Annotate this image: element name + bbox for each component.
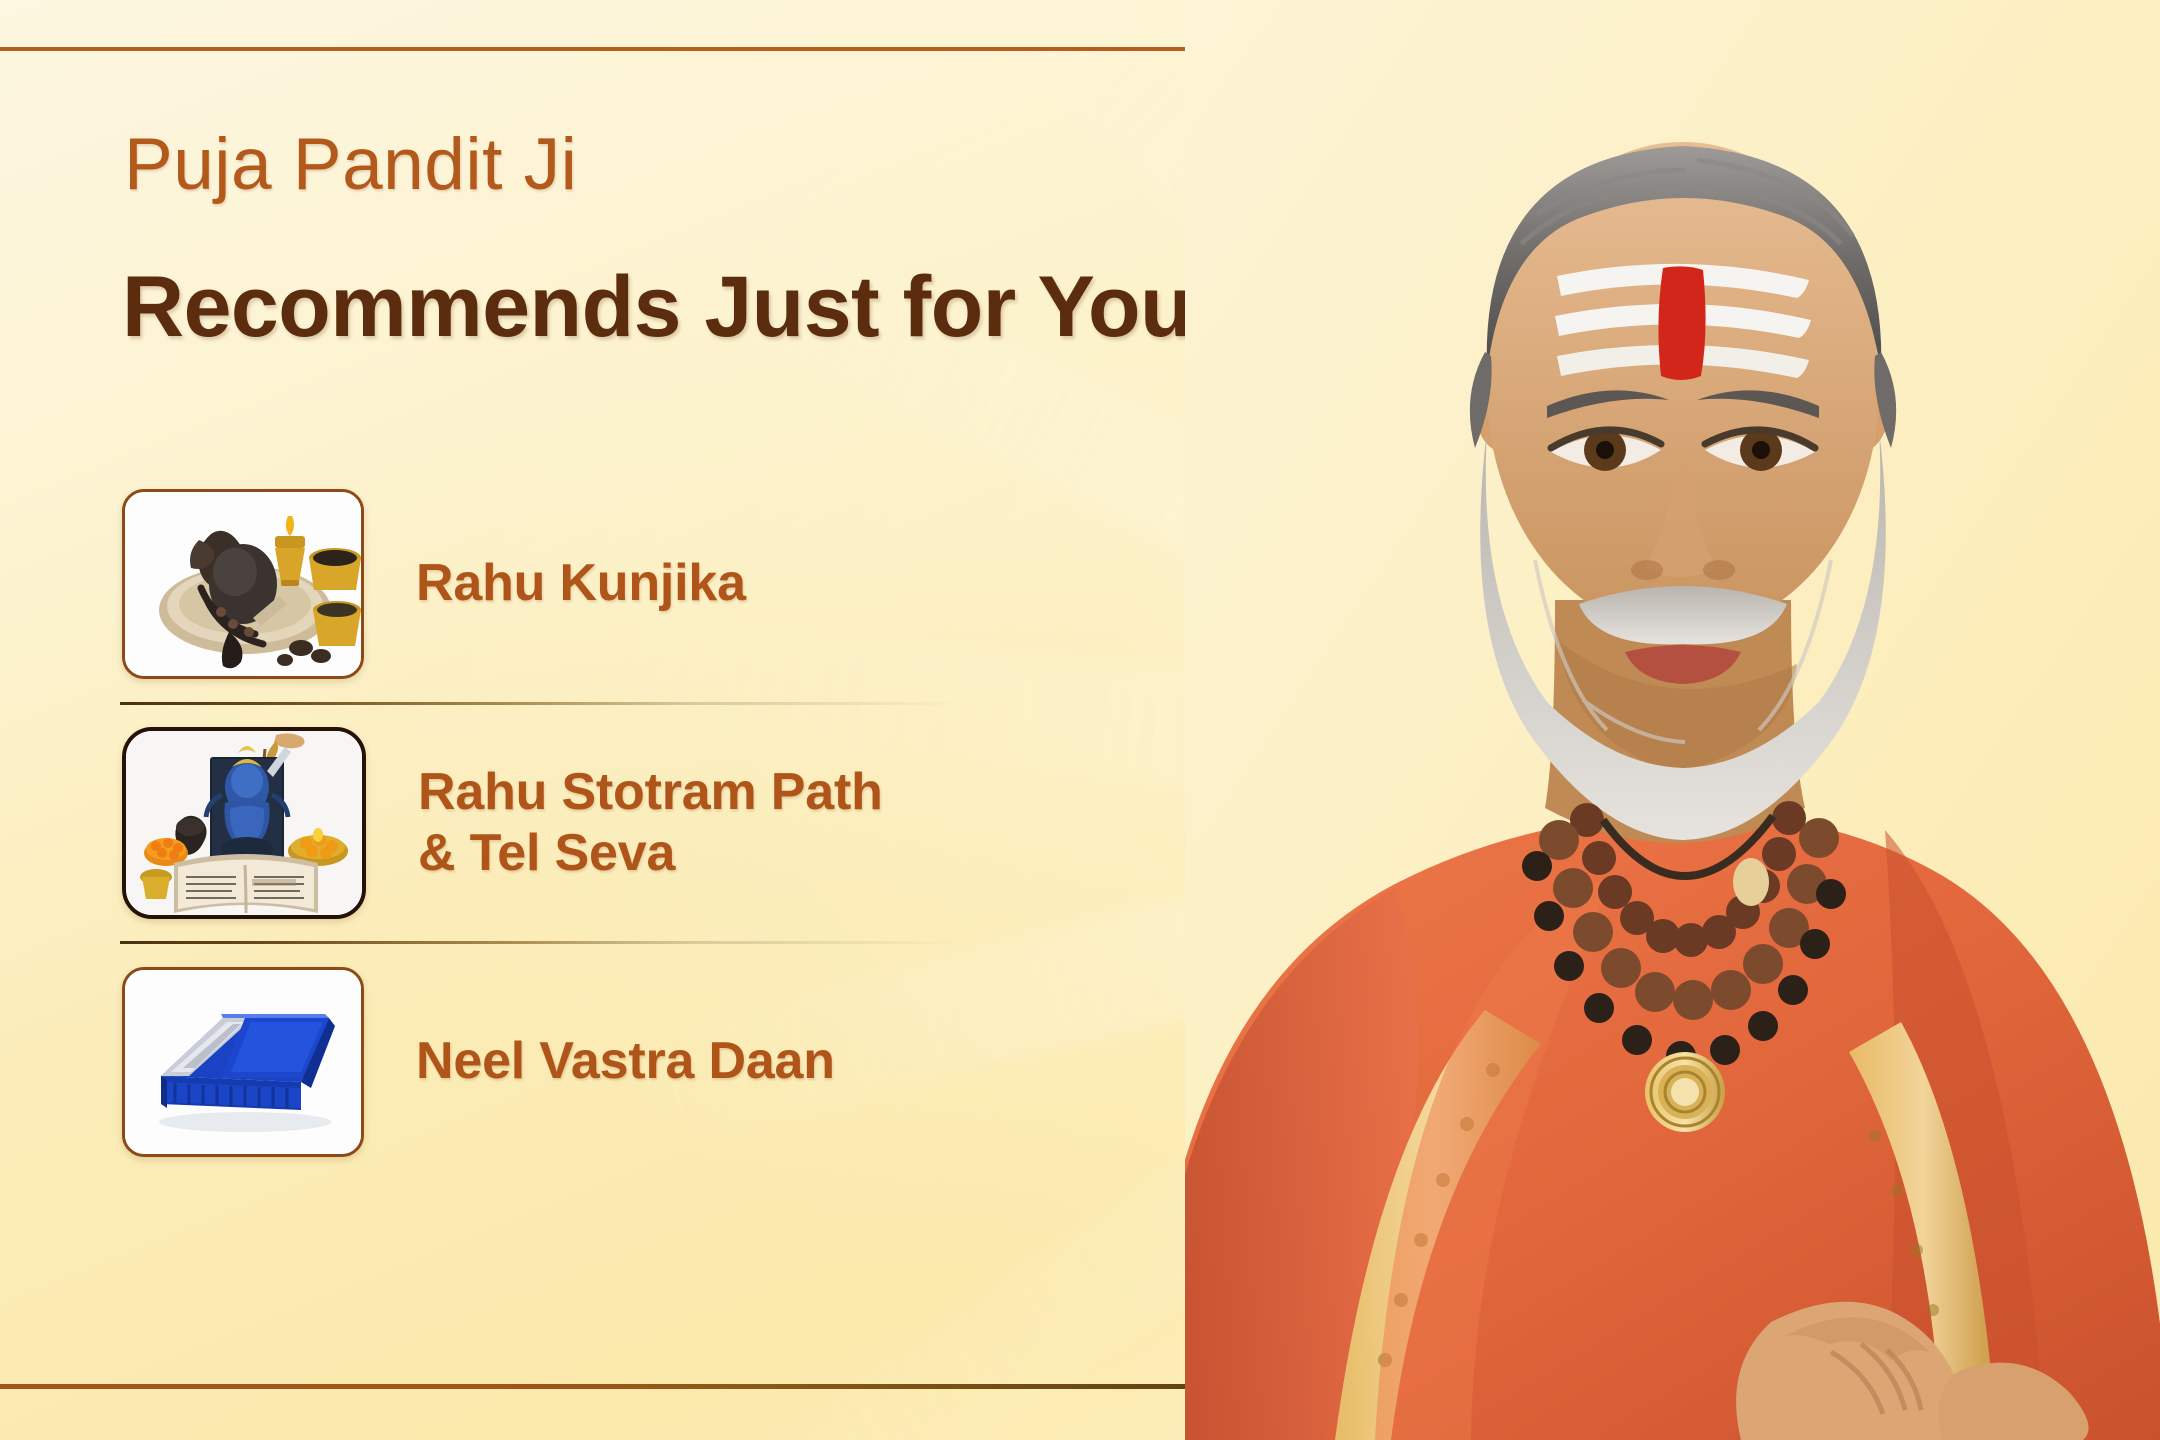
banner-headline: Recommends Just for You (122, 264, 1192, 350)
puja-thali-rudraksha-mala-icon (122, 489, 364, 679)
banner-canvas: Puja Pandit Ji Recommends Just for You (0, 0, 2160, 1440)
list-item-label: Neel Vastra Daan (416, 1031, 835, 1092)
bottom-divider-rule (0, 1384, 1215, 1389)
list-item[interactable]: Neel Vastra Daan (0, 944, 1230, 1180)
list-item-label-line1: Rahu Stotram Path (418, 762, 883, 823)
list-item-label: Rahu Stotram Path & Tel Seva (418, 762, 883, 885)
banner-kicker: Puja Pandit Ji (124, 128, 577, 201)
puja-pandit-ji-portrait (1185, 0, 2160, 1440)
content-column: Puja Pandit Ji Recommends Just for You (0, 0, 1230, 1440)
list-item[interactable]: Rahu Kunjika (0, 466, 1230, 702)
list-item-label-line2: & Tel Seva (418, 823, 883, 884)
list-item-label: Rahu Kunjika (416, 553, 746, 614)
list-item[interactable]: Rahu Stotram Path & Tel Seva (0, 705, 1230, 941)
folded-blue-cloth-icon (122, 967, 364, 1157)
recommendation-list: Rahu Kunjika (0, 466, 1230, 1180)
rahu-deity-open-book-icon (122, 727, 366, 919)
